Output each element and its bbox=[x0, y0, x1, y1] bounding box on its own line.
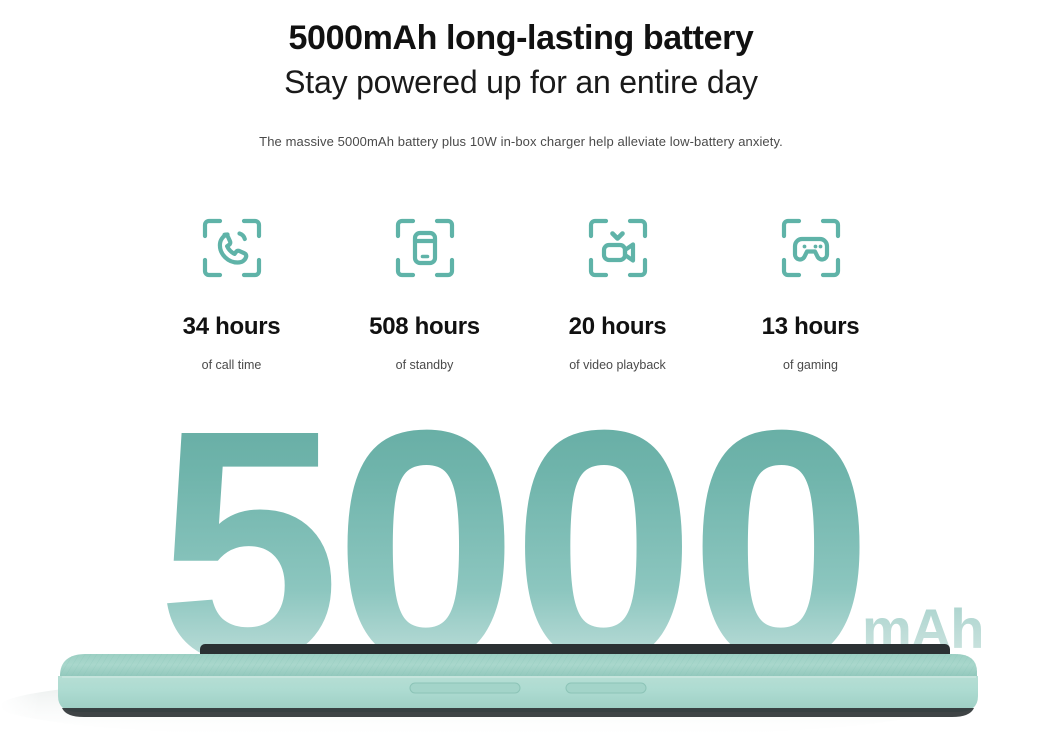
stat-value: 34 hours bbox=[135, 313, 328, 341]
stat-label: of call time bbox=[135, 358, 328, 372]
description-text: The massive 5000mAh battery plus 10W in-… bbox=[0, 134, 1042, 149]
headline-block: 5000mAh long-lasting battery Stay powere… bbox=[0, 18, 1042, 104]
stat-item-video-playback: 20 hours of video playback bbox=[521, 205, 714, 372]
stat-value: 13 hours bbox=[714, 313, 907, 341]
stat-label: of gaming bbox=[714, 358, 907, 372]
battery-feature-page: 5000mAh long-lasting battery Stay powere… bbox=[0, 0, 1042, 749]
phone-call-icon bbox=[135, 205, 328, 291]
stat-item-standby: 508 hours of standby bbox=[328, 205, 521, 372]
stat-label: of standby bbox=[328, 358, 521, 372]
stat-item-gaming: 13 hours of gaming bbox=[714, 205, 907, 372]
video-camera-icon bbox=[521, 205, 714, 291]
page-title: 5000mAh long-lasting battery bbox=[0, 18, 1042, 59]
phone-product-image bbox=[0, 620, 1042, 749]
stat-label: of video playback bbox=[521, 358, 714, 372]
smartphone-icon bbox=[328, 205, 521, 291]
stat-value: 20 hours bbox=[521, 313, 714, 341]
stat-value: 508 hours bbox=[328, 313, 521, 341]
gamepad-icon bbox=[714, 205, 907, 291]
stat-item-call-time: 34 hours of call time bbox=[135, 205, 328, 372]
page-subtitle: Stay powered up for an entire day bbox=[0, 62, 1042, 104]
stats-row: 34 hours of call time 508 hours of stand… bbox=[135, 205, 907, 372]
